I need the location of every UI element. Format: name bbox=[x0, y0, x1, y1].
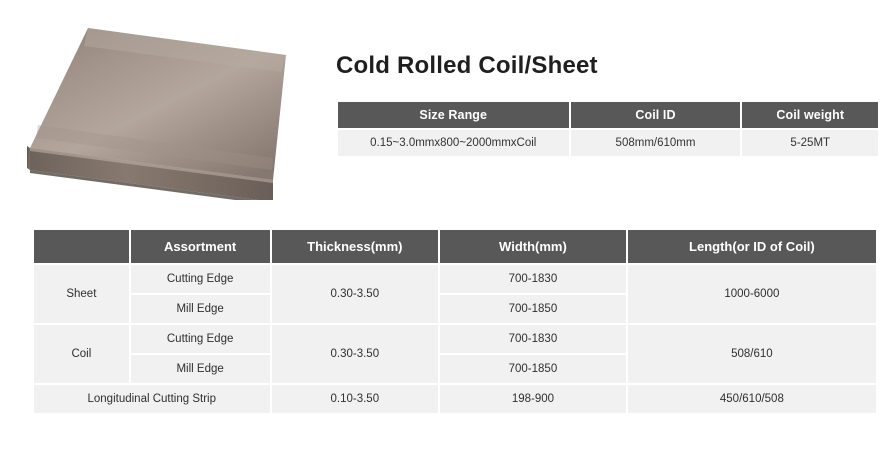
spec-cell-assortment: Mill Edge bbox=[131, 295, 270, 323]
spec-cell-assortment: Cutting Edge bbox=[131, 265, 270, 293]
spec-cell-width: 700-1830 bbox=[440, 265, 626, 293]
table-row: Longitudinal Cutting Strip 0.10-3.50 198… bbox=[34, 385, 876, 413]
spec-cell-length: 1000-6000 bbox=[628, 265, 876, 323]
summary-cell-size-range: 0.15~3.0mmx800~2000mmxCoil bbox=[338, 130, 569, 156]
spec-cell-length: 508/610 bbox=[628, 325, 876, 383]
spec-header-row: Assortment Thickness(mm) Width(mm) Lengt… bbox=[34, 230, 876, 263]
spec-cell-length: 450/610/508 bbox=[628, 385, 876, 413]
spec-cell-assortment: Mill Edge bbox=[131, 355, 270, 383]
summary-data-row: 0.15~3.0mmx800~2000mmxCoil 508mm/610mm 5… bbox=[338, 130, 878, 156]
spec-header-width: Width(mm) bbox=[440, 230, 626, 263]
table-row: Sheet Cutting Edge 0.30-3.50 700-1830 10… bbox=[34, 265, 876, 293]
spec-header-group bbox=[34, 230, 129, 263]
spec-cell-thickness: 0.10-3.50 bbox=[272, 385, 439, 413]
summary-header-coil-weight: Coil weight bbox=[742, 102, 878, 128]
spec-header-thickness: Thickness(mm) bbox=[272, 230, 439, 263]
page-title: Cold Rolled Coil/Sheet bbox=[336, 52, 598, 80]
summary-table: Size Range Coil ID Coil weight 0.15~3.0m… bbox=[336, 100, 880, 158]
header-section: Cold Rolled Coil/Sheet Size Range Coil I… bbox=[0, 0, 890, 215]
summary-header-row: Size Range Coil ID Coil weight bbox=[338, 102, 878, 128]
spec-cell-group-coil: Coil bbox=[34, 325, 129, 383]
summary-cell-coil-id: 508mm/610mm bbox=[571, 130, 741, 156]
spec-cell-assortment: Cutting Edge bbox=[131, 325, 270, 353]
specification-table: Assortment Thickness(mm) Width(mm) Lengt… bbox=[32, 228, 878, 415]
summary-header-size-range: Size Range bbox=[338, 102, 569, 128]
spec-header-assortment: Assortment bbox=[131, 230, 270, 263]
spec-cell-width: 198-900 bbox=[440, 385, 626, 413]
spec-cell-width: 700-1850 bbox=[440, 295, 626, 323]
summary-cell-coil-weight: 5-25MT bbox=[742, 130, 878, 156]
spec-header-length: Length(or ID of Coil) bbox=[628, 230, 876, 263]
spec-cell-width: 700-1850 bbox=[440, 355, 626, 383]
spec-cell-thickness: 0.30-3.50 bbox=[272, 265, 439, 323]
spec-cell-group-sheet: Sheet bbox=[34, 265, 129, 323]
table-row: Coil Cutting Edge 0.30-3.50 700-1830 508… bbox=[34, 325, 876, 353]
summary-header-coil-id: Coil ID bbox=[571, 102, 741, 128]
spec-cell-thickness: 0.30-3.50 bbox=[272, 325, 439, 383]
spec-cell-width: 700-1830 bbox=[440, 325, 626, 353]
spec-cell-assortment-strip: Longitudinal Cutting Strip bbox=[34, 385, 270, 413]
steel-sheet-illustration bbox=[18, 20, 308, 200]
